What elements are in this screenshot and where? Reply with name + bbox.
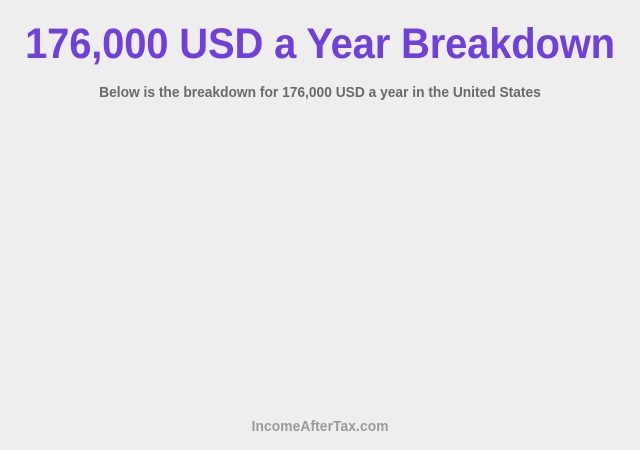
page-footer: IncomeAfterTax.com [0, 418, 640, 436]
chart-area [0, 118, 640, 410]
page-subtitle: Below is the breakdown for 176,000 USD a… [16, 84, 624, 102]
page-root: 176,000 USD a Year Breakdown Below is th… [0, 0, 640, 450]
chart-canvas [0, 118, 640, 410]
site-credit-label: IncomeAfterTax.com [252, 418, 389, 436]
page-title: 176,000 USD a Year Breakdown [22, 21, 617, 67]
